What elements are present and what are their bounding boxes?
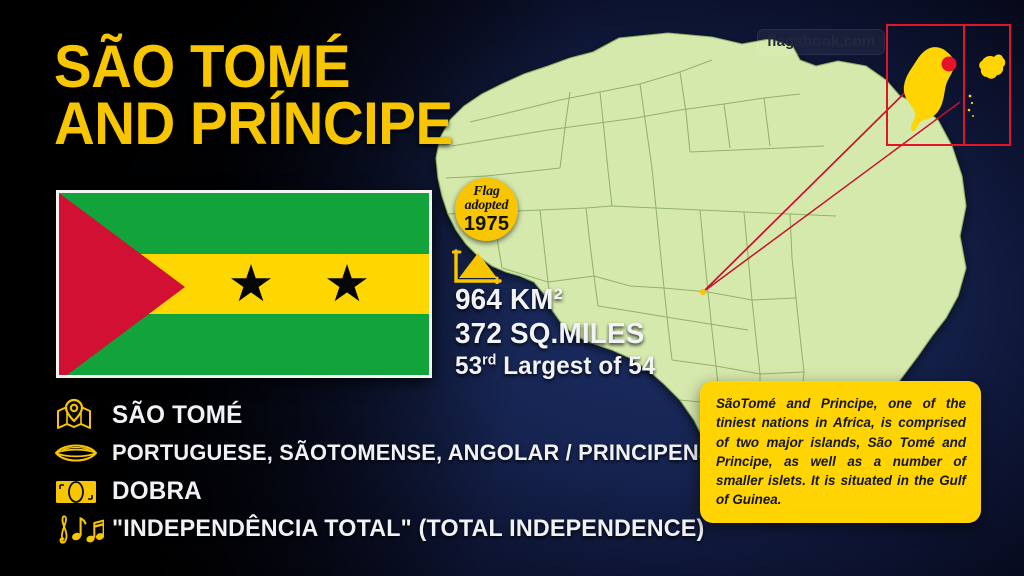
area-stats: 964 KM² 372 SQ.MILES 53rd Largest of 54 [455, 284, 662, 381]
map-pin-icon [54, 398, 112, 432]
area-rank: 53rd Largest of 54 [455, 351, 655, 381]
music-notes-icon [54, 513, 112, 545]
capital-value: SÃO TOMÉ [112, 401, 242, 430]
title-line-2: AND PRÍNCIPE [54, 95, 453, 152]
fact-row-anthem: "INDEPENDÊNCIA TOTAL" (TOTAL INDEPENDENC… [54, 510, 674, 548]
fact-row-currency: DOBRA [54, 472, 674, 510]
fact-row-language: PORTUGUESE, SÃOTOMENSE, ANGOLAR / PRINCI… [54, 434, 674, 472]
area-rank-ordinal: rd [482, 353, 496, 369]
country-description-callout: SãoTomé and Principe, one of the tiniest… [700, 381, 981, 523]
principe-island [979, 54, 1005, 78]
flag-hoist-triangle-red [59, 193, 185, 378]
country-description-text: SãoTomé and Principe, one of the tiniest… [716, 394, 966, 510]
islets [968, 95, 974, 117]
anthem-value: "INDEPENDÊNCIA TOTAL" (TOTAL INDEPENDENC… [112, 515, 704, 543]
page-title: SÃO TOMÉ AND PRÍNCIPE [54, 38, 453, 152]
badge-line-1: Flag [473, 185, 499, 199]
area-rank-rest: Largest of 54 [496, 352, 655, 380]
flagsbook-watermark: flagsbook.com [757, 29, 885, 55]
area-km2: 964 KM² [455, 284, 653, 318]
currency-value: DOBRA [112, 477, 202, 506]
badge-line-2: adopted [465, 199, 509, 213]
fact-row-capital: SÃO TOMÉ [54, 396, 674, 434]
flag-of-sao-tome-and-principe [56, 190, 432, 378]
flag-adopted-badge: Flag adopted 1975 [455, 178, 518, 241]
lips-icon [54, 440, 112, 466]
area-sq-miles: 372 SQ.MILES [455, 318, 653, 352]
sao-tome-and-principe-inset-map [886, 24, 1011, 146]
area-triangle-icon [452, 248, 504, 284]
area-rank-number: 53 [455, 352, 482, 380]
badge-year: 1975 [464, 214, 509, 234]
infographic-canvas: SÃO TOMÉ AND PRÍNCIPE Flag adopted 1975 … [0, 0, 1024, 576]
banknote-icon [54, 476, 112, 506]
country-facts-list: SÃO TOMÉ PORTUGUESE, SÃOTOMENSE, ANGOLAR… [54, 396, 674, 548]
capital-marker [942, 57, 957, 72]
